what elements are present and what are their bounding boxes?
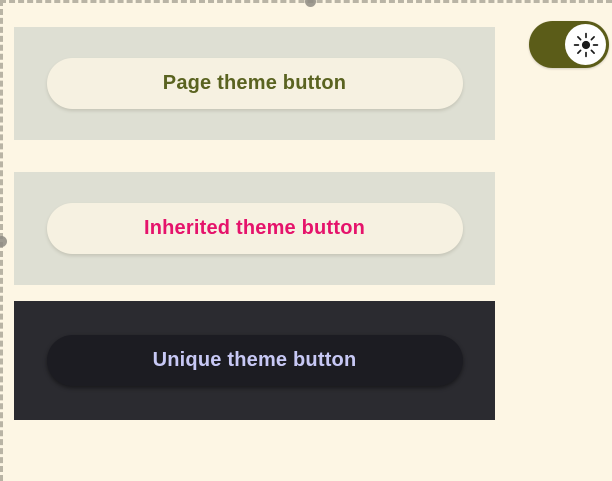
resize-handle-middle-left[interactable] [0,236,7,247]
inherited-theme-card: Inherited theme button [14,172,495,285]
inherited-theme-button[interactable]: Inherited theme button [47,203,463,254]
sun-icon [573,32,599,58]
resize-handle-top-center[interactable] [305,0,316,7]
theme-toggle[interactable] [529,21,609,68]
page-theme-button[interactable]: Page theme button [47,58,463,109]
page-theme-card: Page theme button [14,27,495,140]
unique-theme-card: Unique theme button [14,301,495,420]
theme-toggle-knob [565,24,606,65]
unique-theme-button[interactable]: Unique theme button [47,335,463,386]
page-frame: Page theme button Inherited theme button… [0,0,612,481]
